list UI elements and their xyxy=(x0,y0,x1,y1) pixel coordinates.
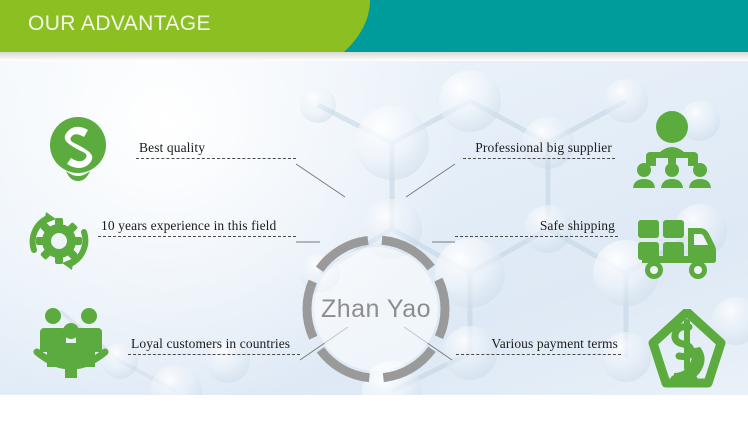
hand-money-icon xyxy=(648,309,726,395)
gear-cycle-icon xyxy=(22,204,96,283)
page-title: OUR ADVANTAGE xyxy=(28,12,211,36)
label-underline xyxy=(98,236,296,237)
advantage-label-best-quality: Best quality xyxy=(136,140,296,159)
label-underline xyxy=(128,354,300,355)
advantage-label-text: Safe shipping xyxy=(455,218,618,236)
three-people-icon xyxy=(32,304,110,383)
advantage-label-text: Professional big supplier xyxy=(463,140,615,158)
delivery-truck-icon xyxy=(634,216,718,287)
quality-sq-badge-icon xyxy=(44,113,112,190)
center-ring: Zhan Yao xyxy=(296,229,456,389)
advantage-banner: OUR ADVANTAGE xyxy=(0,0,748,427)
footer-whitespace xyxy=(0,395,748,427)
header-bar: OUR ADVANTAGE xyxy=(0,0,748,52)
org-hierarchy-icon xyxy=(630,110,714,193)
advantage-label-payment-terms: Various payment terms xyxy=(456,336,621,355)
label-underline xyxy=(455,236,618,237)
header-shadow xyxy=(0,52,748,61)
advantage-label-experience: 10 years experience in this field xyxy=(98,218,296,237)
brand-name: Zhan Yao xyxy=(296,229,456,389)
advantage-label-big-supplier: Professional big supplier xyxy=(463,140,615,159)
advantage-label-text: Best quality xyxy=(136,140,296,158)
advantage-label-text: Various payment terms xyxy=(456,336,621,354)
label-underline xyxy=(463,158,615,159)
label-underline xyxy=(136,158,296,159)
advantage-label-text: Loyal customers in countries xyxy=(128,336,300,354)
advantage-label-loyal-customers: Loyal customers in countries xyxy=(128,336,300,355)
label-underline xyxy=(456,354,621,355)
advantage-label-safe-shipping: Safe shipping xyxy=(455,218,618,237)
content-panel: Zhan Yao xyxy=(0,61,748,395)
advantage-label-text: 10 years experience in this field xyxy=(98,218,296,236)
